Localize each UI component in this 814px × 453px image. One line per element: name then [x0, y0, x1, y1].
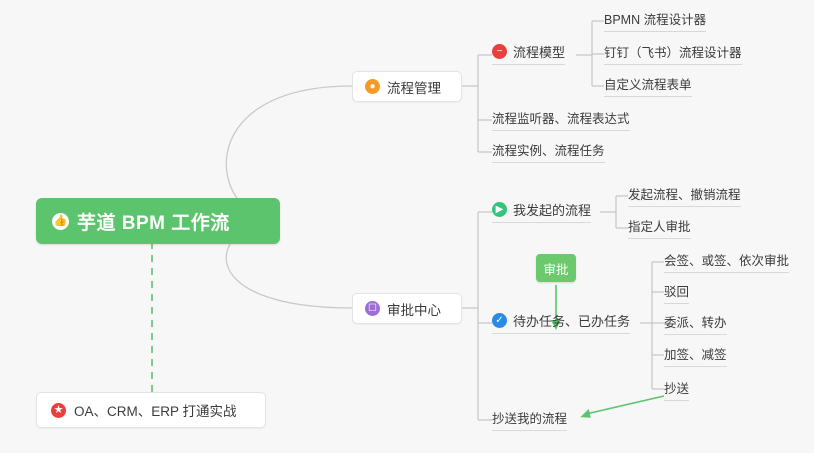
node-reject[interactable]: 驳回 — [664, 281, 689, 304]
note-label: OA、CRM、ERP 打通实战 — [74, 400, 237, 420]
star-circle-icon: ★ — [51, 403, 66, 418]
thumbs-up-icon: 👍 — [52, 213, 69, 230]
note-integration-practice[interactable]: ★ OA、CRM、ERP 打通实战 — [36, 392, 266, 428]
lightbulb-icon: ● — [365, 79, 380, 94]
node-countersign[interactable]: 会签、或签、依次审批 — [664, 250, 789, 273]
arrow-chaosong-to-flow — [586, 396, 664, 414]
branch-label: 流程管理 — [387, 77, 441, 97]
check-circle-icon: ✓ — [492, 313, 507, 328]
node-add-remove-sign[interactable]: 加签、减签 — [664, 344, 727, 367]
node-process-instance[interactable]: 流程实例、流程任务 — [492, 140, 605, 163]
node-process-listener[interactable]: 流程监听器、流程表达式 — [492, 108, 630, 131]
branch-node-process-management[interactable]: ● 流程管理 — [352, 71, 462, 102]
node-assign-approver[interactable]: 指定人审批 — [628, 216, 691, 239]
callout-approval[interactable]: 审批 — [536, 254, 576, 282]
play-circle-icon: ▶ — [492, 202, 507, 217]
node-label: 流程模型 — [513, 42, 565, 61]
node-cc-to-me[interactable]: 抄送我的流程 — [492, 408, 567, 431]
mindmap-canvas: 👍 芋道 BPM 工作流 ● 流程管理 − 流程模型 流程监听器、流程表达式 流… — [0, 0, 814, 453]
node-label: 我发起的流程 — [513, 200, 591, 219]
node-start-cancel-flow[interactable]: 发起流程、撤销流程 — [628, 184, 741, 207]
root-node[interactable]: 👍 芋道 BPM 工作流 — [36, 198, 280, 244]
node-process-model[interactable]: − 流程模型 — [492, 42, 565, 65]
node-custom-form[interactable]: 自定义流程表单 — [604, 74, 692, 97]
node-cc[interactable]: 抄送 — [664, 378, 689, 401]
node-bpmn-designer[interactable]: BPMN 流程设计器 — [604, 9, 706, 32]
minus-circle-icon: − — [492, 44, 507, 59]
root-node-label: 芋道 BPM 工作流 — [77, 208, 230, 235]
node-dingtalk-designer[interactable]: 钉钉（飞书）流程设计器 — [604, 42, 742, 65]
branch-label: 审批中心 — [387, 299, 441, 319]
node-todo-done-tasks[interactable]: ✓ 待办任务、已办任务 — [492, 311, 630, 334]
mail-icon: ☐ — [365, 301, 380, 316]
node-my-started-flows[interactable]: ▶ 我发起的流程 — [492, 200, 591, 223]
node-label: 待办任务、已办任务 — [513, 311, 630, 330]
node-delegate-transfer[interactable]: 委派、转办 — [664, 312, 727, 335]
branch-node-approval-center[interactable]: ☐ 审批中心 — [352, 293, 462, 324]
